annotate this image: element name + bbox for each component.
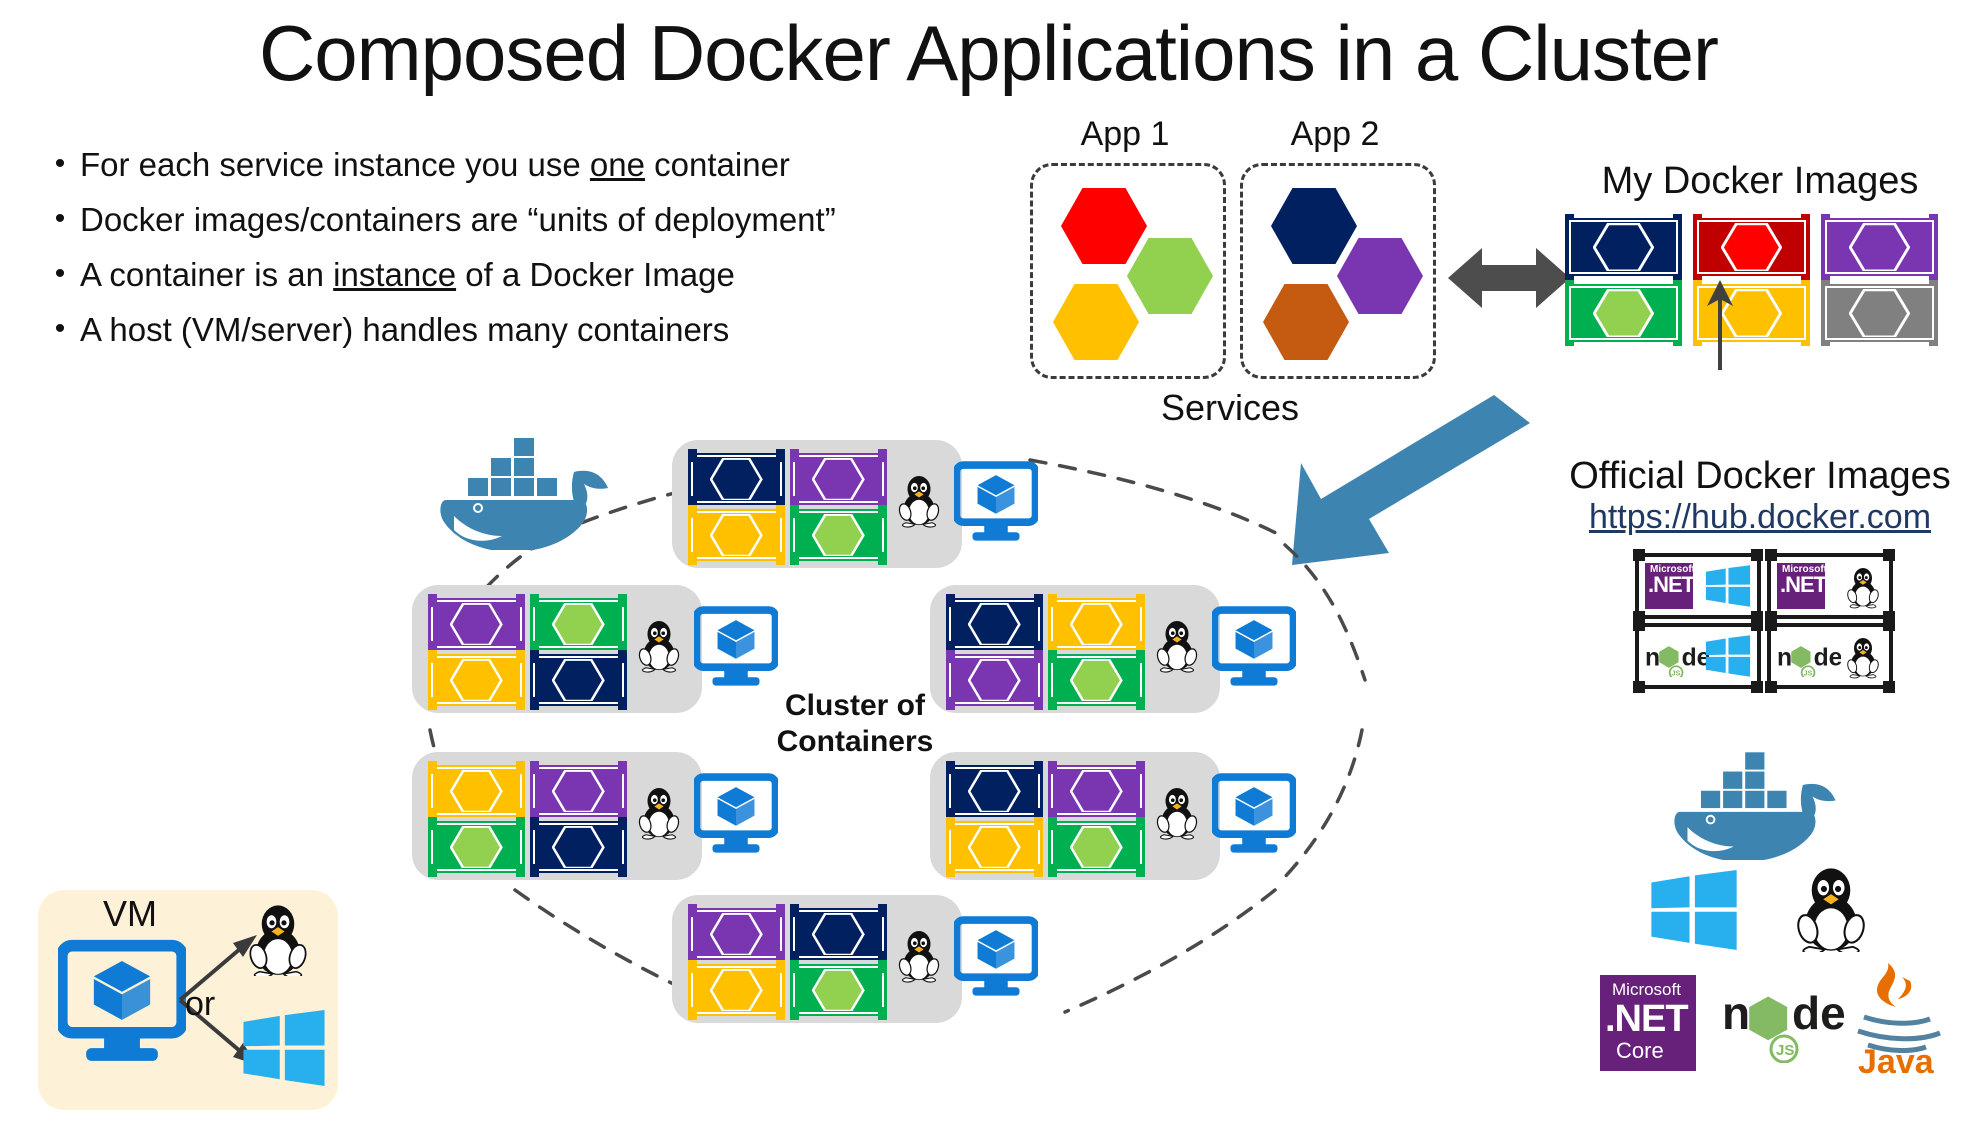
svg-text:de: de xyxy=(1792,987,1844,1039)
corner-bracket xyxy=(790,552,799,565)
corner-bracket xyxy=(530,817,539,830)
corner-bracket xyxy=(1136,650,1145,663)
corner-bracket xyxy=(618,594,627,607)
container-tile[interactable] xyxy=(946,654,1043,706)
linux-penguin-icon xyxy=(636,782,682,840)
container-tile[interactable] xyxy=(688,453,785,505)
corner-bracket xyxy=(878,505,887,518)
corner-bracket xyxy=(688,904,697,917)
container-tile[interactable] xyxy=(428,654,525,706)
container-tile[interactable] xyxy=(1048,654,1145,706)
dotnet-core-microsoft-label: Microsoft xyxy=(1612,981,1681,999)
corner-bracket xyxy=(688,505,697,518)
corner-bracket xyxy=(776,960,785,973)
corner-bracket xyxy=(776,552,785,565)
corner-bracket xyxy=(688,960,697,973)
corner-bracket xyxy=(1136,817,1145,830)
windows-logo xyxy=(240,1010,328,1086)
linux-penguin-icon xyxy=(1154,782,1200,840)
corner-bracket xyxy=(618,817,627,830)
corner-bracket xyxy=(688,449,697,462)
container-tile[interactable] xyxy=(1048,765,1145,817)
corner-bracket xyxy=(618,697,627,710)
vm-monitor-icon xyxy=(58,938,186,1066)
corner-bracket xyxy=(776,904,785,917)
windows-logo xyxy=(1648,870,1740,950)
container-inner-frame xyxy=(431,767,522,815)
container-tile[interactable] xyxy=(1048,821,1145,873)
corner-bracket xyxy=(878,552,887,565)
corner-bracket xyxy=(1136,697,1145,710)
or-label: or xyxy=(185,985,215,1024)
container-tile[interactable] xyxy=(688,964,785,1016)
container-inner-frame xyxy=(533,600,624,648)
container-inner-frame xyxy=(691,511,782,559)
docker-whale-logo xyxy=(1665,735,1860,860)
container-inner-frame xyxy=(793,455,884,503)
container-tile[interactable] xyxy=(946,821,1043,873)
container-inner-frame xyxy=(1051,656,1142,704)
corner-bracket xyxy=(878,449,887,462)
host-right-upper[interactable] xyxy=(930,585,1360,713)
container-tile[interactable] xyxy=(428,821,525,873)
container-tile[interactable] xyxy=(530,765,627,817)
corner-bracket xyxy=(790,505,799,518)
corner-bracket xyxy=(790,960,799,973)
host-left-lower[interactable] xyxy=(412,752,842,880)
corner-bracket xyxy=(1048,864,1057,877)
container-tile[interactable] xyxy=(790,908,887,960)
svg-text:JS: JS xyxy=(1776,1042,1794,1059)
container-tile[interactable] xyxy=(790,453,887,505)
corner-bracket xyxy=(1034,697,1043,710)
container-inner-frame xyxy=(533,823,624,871)
corner-bracket xyxy=(428,594,437,607)
dotnet-core-core-label: Core xyxy=(1616,1039,1664,1063)
linux-penguin-icon xyxy=(1154,615,1200,673)
host-bottom[interactable] xyxy=(672,895,1102,1023)
container-inner-frame xyxy=(1051,823,1142,871)
corner-bracket xyxy=(1136,761,1145,774)
vm-monitor-icon[interactable] xyxy=(954,460,1038,544)
corner-bracket xyxy=(688,1007,697,1020)
corner-bracket xyxy=(530,697,539,710)
host-left-upper[interactable] xyxy=(412,585,842,713)
corner-bracket xyxy=(946,817,955,830)
corner-bracket xyxy=(946,594,955,607)
corner-bracket xyxy=(530,761,539,774)
corner-bracket xyxy=(1048,761,1057,774)
container-inner-frame xyxy=(793,910,884,958)
corner-bracket xyxy=(516,650,525,663)
container-inner-frame xyxy=(793,966,884,1014)
corner-bracket xyxy=(428,864,437,877)
container-tile[interactable] xyxy=(946,598,1043,650)
corner-bracket xyxy=(1048,650,1057,663)
container-tile[interactable] xyxy=(790,964,887,1016)
corner-bracket xyxy=(776,449,785,462)
container-inner-frame xyxy=(1051,767,1142,815)
corner-bracket xyxy=(530,650,539,663)
container-tile[interactable] xyxy=(1048,598,1145,650)
corner-bracket xyxy=(516,817,525,830)
linux-penguin-logo xyxy=(242,900,314,976)
container-tile[interactable] xyxy=(530,821,627,873)
linux-penguin-icon xyxy=(896,470,942,528)
svg-text:n: n xyxy=(1722,987,1750,1039)
corner-bracket xyxy=(878,904,887,917)
corner-bracket xyxy=(946,697,955,710)
vm-monitor-icon[interactable] xyxy=(694,772,778,856)
corner-bracket xyxy=(428,697,437,710)
corner-bracket xyxy=(776,505,785,518)
container-inner-frame xyxy=(793,511,884,559)
corner-bracket xyxy=(516,761,525,774)
container-inner-frame xyxy=(691,455,782,503)
container-inner-frame xyxy=(431,600,522,648)
dotnet-core-logo: Microsoft .NET Core xyxy=(1600,975,1696,1071)
container-tile[interactable] xyxy=(790,509,887,561)
corner-bracket xyxy=(1034,650,1043,663)
container-tile[interactable] xyxy=(946,765,1043,817)
container-inner-frame xyxy=(533,656,624,704)
container-tile[interactable] xyxy=(688,509,785,561)
container-tile[interactable] xyxy=(530,654,627,706)
corner-bracket xyxy=(1048,697,1057,710)
container-tile[interactable] xyxy=(428,598,525,650)
corner-bracket xyxy=(1136,864,1145,877)
corner-bracket xyxy=(946,864,955,877)
container-tile[interactable] xyxy=(428,765,525,817)
nodejs-logo: n de JS xyxy=(1722,985,1844,1063)
corner-bracket xyxy=(516,594,525,607)
vm-monitor-icon[interactable] xyxy=(694,605,778,689)
corner-bracket xyxy=(530,864,539,877)
container-inner-frame xyxy=(533,767,624,815)
container-inner-frame xyxy=(691,910,782,958)
vm-monitor-icon[interactable] xyxy=(954,915,1038,999)
container-inner-frame xyxy=(949,600,1040,648)
container-inner-frame xyxy=(691,966,782,1014)
corner-bracket xyxy=(1034,761,1043,774)
vm-monitor-icon[interactable] xyxy=(1212,772,1296,856)
container-tile[interactable] xyxy=(530,598,627,650)
corner-bracket xyxy=(618,864,627,877)
linux-penguin-icon xyxy=(636,615,682,673)
linux-penguin-icon xyxy=(896,925,942,983)
container-inner-frame xyxy=(949,656,1040,704)
corner-bracket xyxy=(428,761,437,774)
corner-bracket xyxy=(618,650,627,663)
dotnet-core-net-label: .NET xyxy=(1605,999,1688,1039)
container-inner-frame xyxy=(949,767,1040,815)
container-inner-frame xyxy=(949,823,1040,871)
corner-bracket xyxy=(790,1007,799,1020)
corner-bracket xyxy=(1034,864,1043,877)
container-inner-frame xyxy=(431,823,522,871)
container-inner-frame xyxy=(431,656,522,704)
corner-bracket xyxy=(428,817,437,830)
host-right-lower[interactable] xyxy=(930,752,1360,880)
corner-bracket xyxy=(688,552,697,565)
corner-bracket xyxy=(530,594,539,607)
container-inner-frame xyxy=(1051,600,1142,648)
corner-bracket xyxy=(1048,817,1057,830)
corner-bracket xyxy=(878,1007,887,1020)
java-logo: Java xyxy=(1840,955,1950,1075)
corner-bracket xyxy=(516,864,525,877)
corner-bracket xyxy=(1034,817,1043,830)
vm-monitor-icon[interactable] xyxy=(1212,605,1296,689)
corner-bracket xyxy=(878,960,887,973)
corner-bracket xyxy=(790,449,799,462)
corner-bracket xyxy=(1034,594,1043,607)
corner-bracket xyxy=(946,761,955,774)
corner-bracket xyxy=(428,650,437,663)
svg-text:Java: Java xyxy=(1858,1043,1935,1075)
container-tile[interactable] xyxy=(688,908,785,960)
corner-bracket xyxy=(946,650,955,663)
corner-bracket xyxy=(1136,594,1145,607)
corner-bracket xyxy=(618,761,627,774)
corner-bracket xyxy=(790,904,799,917)
corner-bracket xyxy=(1048,594,1057,607)
corner-bracket xyxy=(516,697,525,710)
corner-bracket xyxy=(776,1007,785,1020)
host-top[interactable] xyxy=(672,440,1102,568)
linux-penguin-logo xyxy=(1790,862,1872,952)
